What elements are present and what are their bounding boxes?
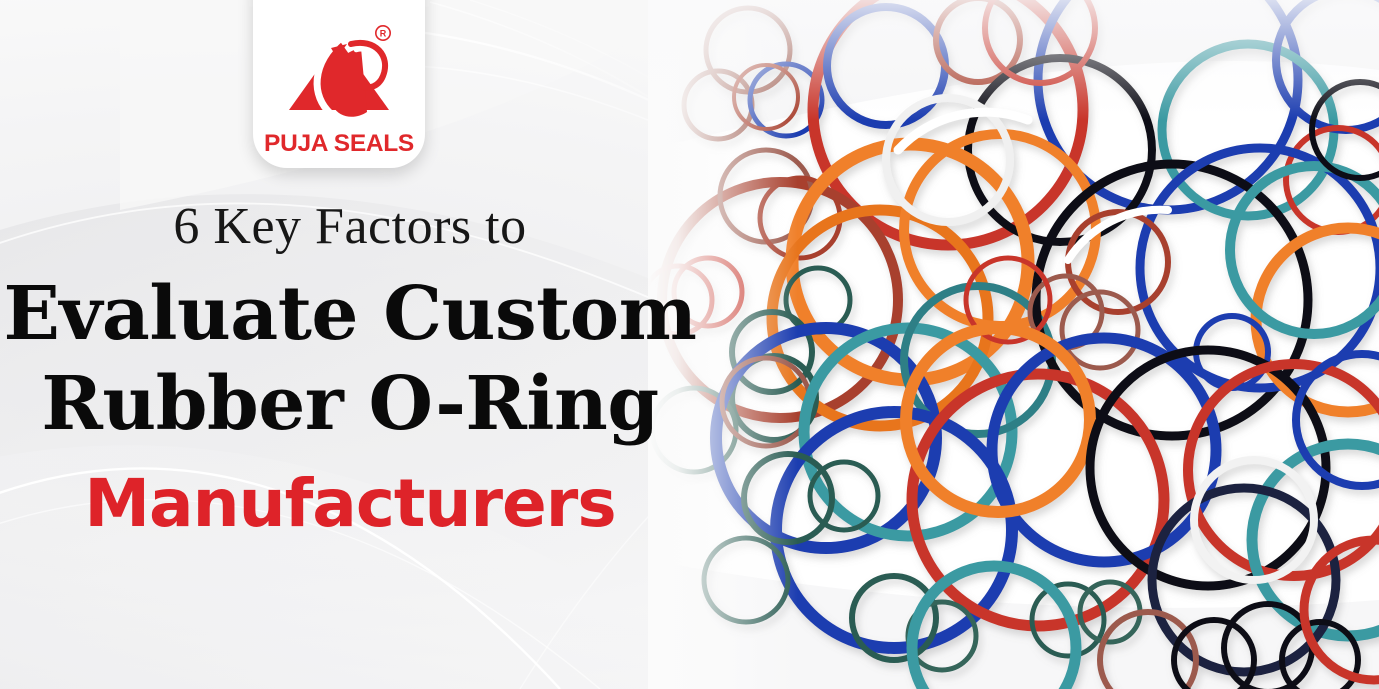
svg-text:R: R [380, 28, 387, 38]
headline-line-2: Rubber O-Ring [0, 359, 700, 449]
headline-line-1: Evaluate Custom [0, 269, 700, 359]
registered-trademark-icon: R [376, 25, 390, 39]
headline-block: 6 Key Factors to Evaluate Custom Rubber … [0, 198, 700, 543]
headline-kicker: 6 Key Factors to [0, 198, 700, 255]
headline-accent: Manufacturers [0, 464, 700, 543]
puja-seals-logo-icon: R [277, 24, 401, 128]
rubber-o-rings-photo [648, 0, 1379, 689]
brand-logo-badge[interactable]: R PUJA SEALS [253, 0, 425, 168]
banner-root: R PUJA SEALS 6 Key Factors to Evaluate C… [0, 0, 1379, 689]
brand-wordmark: PUJA SEALS [264, 132, 414, 157]
